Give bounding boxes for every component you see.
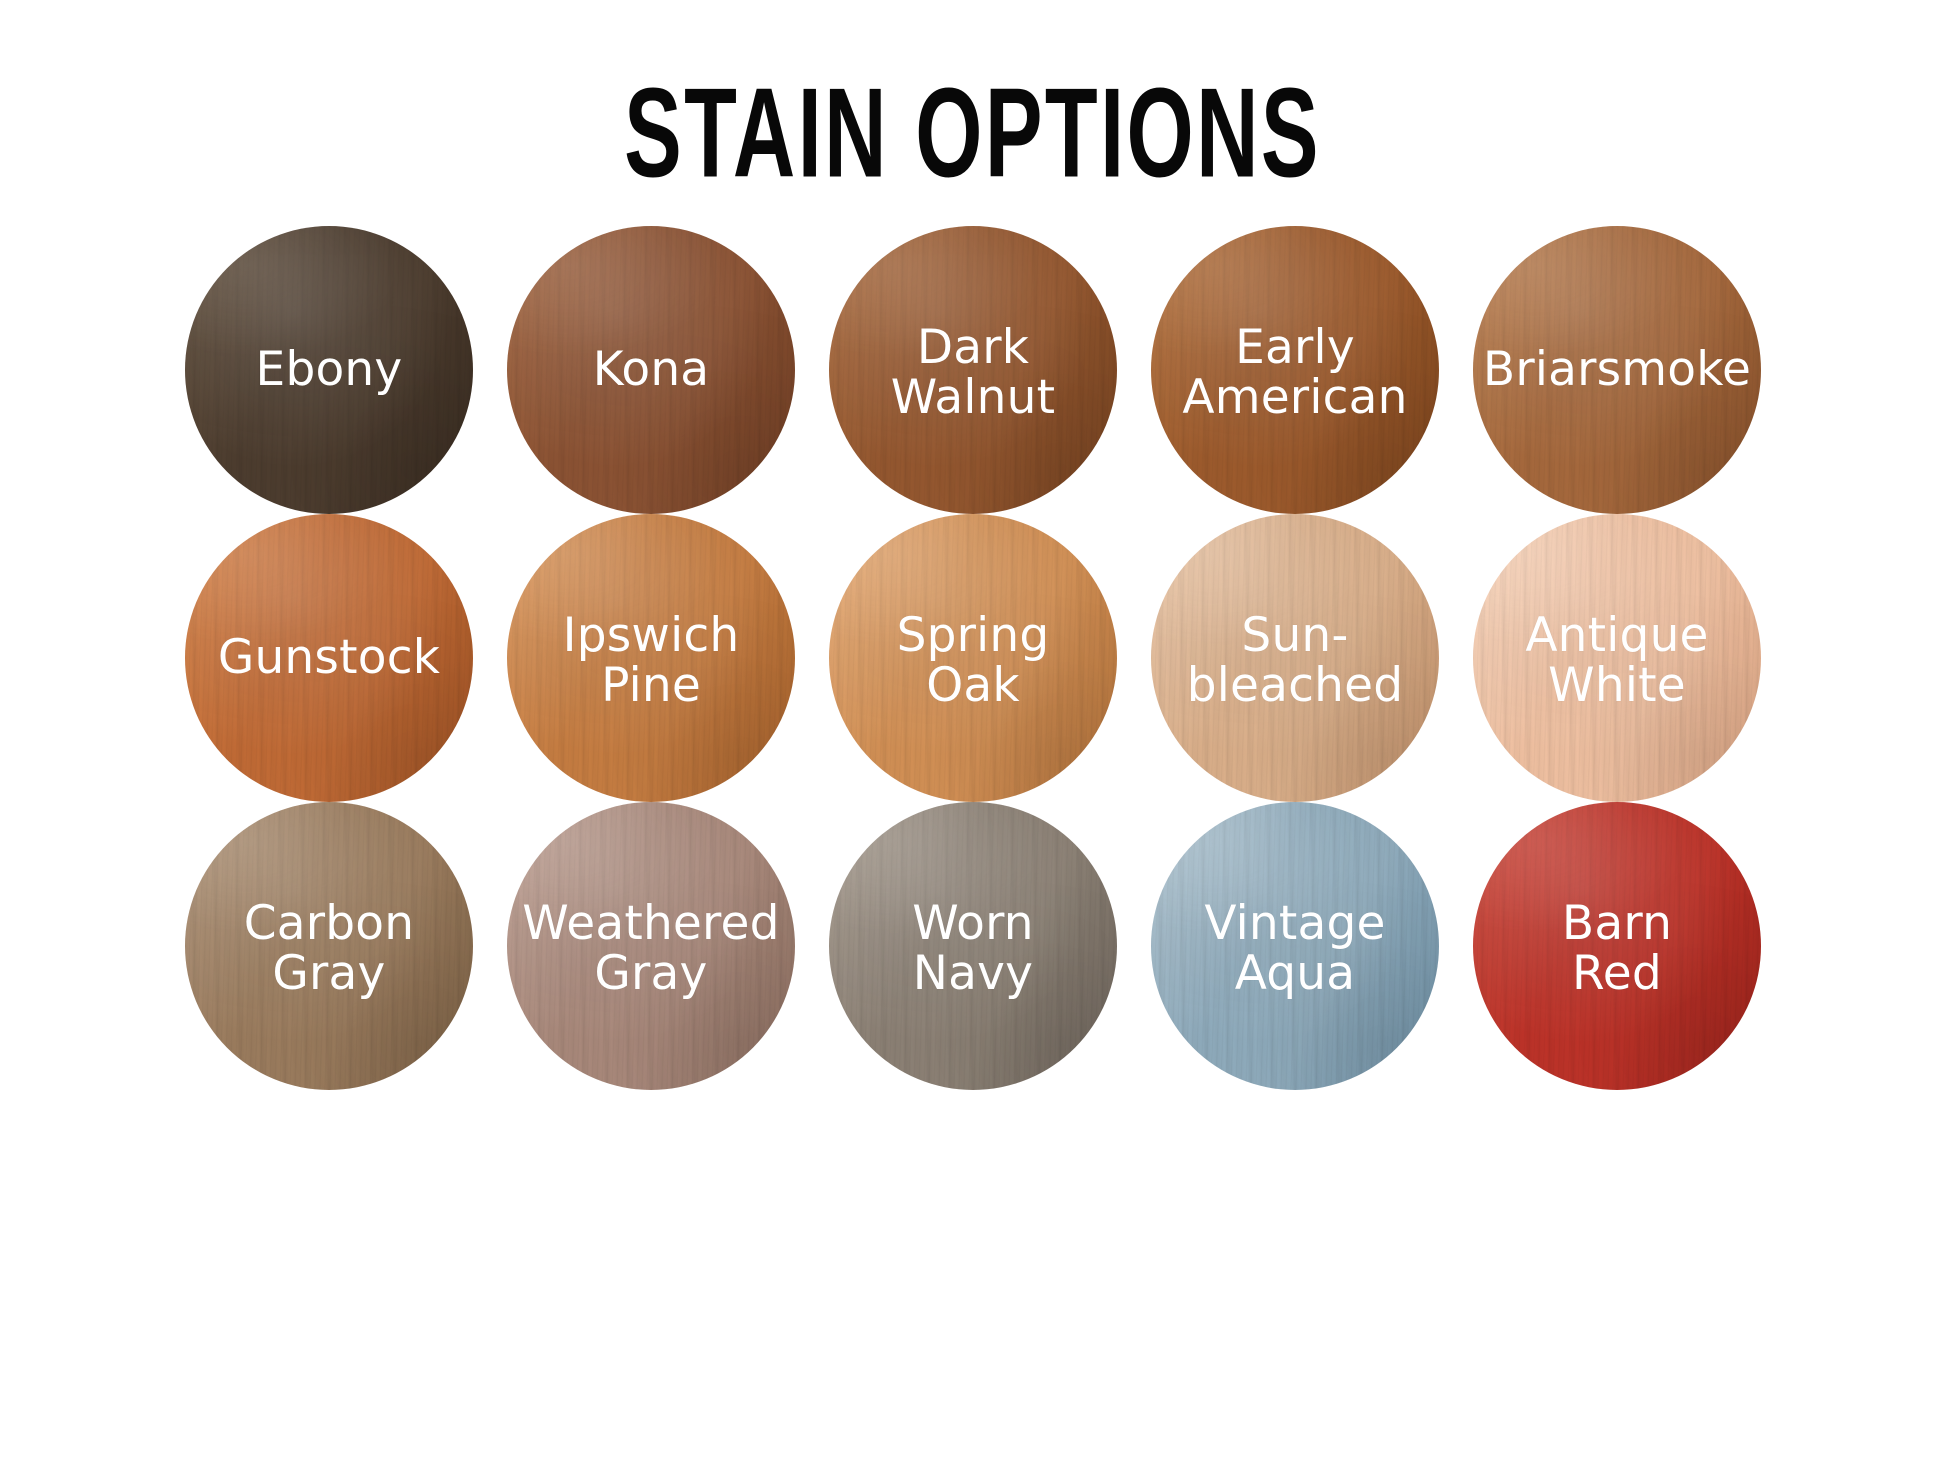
swatch-label: Sun- bleached — [1181, 611, 1410, 711]
swatch-label: Weathered Gray — [516, 899, 785, 999]
swatch-label: Dark Walnut — [885, 323, 1062, 423]
stain-swatch[interactable]: Spring Oak — [829, 514, 1117, 802]
stain-swatch[interactable]: Carbon Gray — [185, 802, 473, 1090]
swatch-label: Vintage Aqua — [1198, 899, 1391, 999]
swatch-label: Antique White — [1519, 611, 1714, 711]
stain-swatch[interactable]: Ipswich Pine — [507, 514, 795, 802]
stain-swatch[interactable]: Weathered Gray — [507, 802, 795, 1090]
swatch-label: Briarsmoke — [1477, 345, 1757, 395]
swatch-label: Ipswich Pine — [557, 611, 746, 711]
stain-swatch[interactable]: Sun- bleached — [1151, 514, 1439, 802]
page-title: STAIN OPTIONS — [625, 69, 1322, 196]
stain-swatch[interactable]: Kona — [507, 226, 795, 514]
stain-swatch[interactable]: Ebony — [185, 226, 473, 514]
swatch-label: Ebony — [250, 345, 409, 395]
stain-swatch[interactable]: Briarsmoke — [1473, 226, 1761, 514]
swatch-label: Worn Navy — [906, 899, 1040, 999]
stain-swatch[interactable]: Worn Navy — [829, 802, 1117, 1090]
page-title-wrap: STAIN OPTIONS — [537, 78, 1408, 188]
stain-swatch[interactable]: Gunstock — [185, 514, 473, 802]
swatch-label: Early American — [1176, 323, 1413, 423]
stain-swatch[interactable]: Dark Walnut — [829, 226, 1117, 514]
stain-swatch[interactable]: Vintage Aqua — [1151, 802, 1439, 1090]
swatch-label: Kona — [587, 345, 716, 395]
stain-swatch[interactable]: Barn Red — [1473, 802, 1761, 1090]
swatch-label: Barn Red — [1556, 899, 1678, 999]
stain-swatch[interactable]: Early American — [1151, 226, 1439, 514]
stain-swatch[interactable]: Antique White — [1473, 514, 1761, 802]
stain-options-page: STAIN OPTIONS EbonyKonaDark WalnutEarly … — [0, 0, 1946, 1459]
swatch-label: Gunstock — [212, 633, 446, 683]
swatch-label: Carbon Gray — [238, 899, 421, 999]
swatch-label: Spring Oak — [891, 611, 1056, 711]
swatch-grid: EbonyKonaDark WalnutEarly AmericanBriars… — [185, 226, 1761, 1090]
